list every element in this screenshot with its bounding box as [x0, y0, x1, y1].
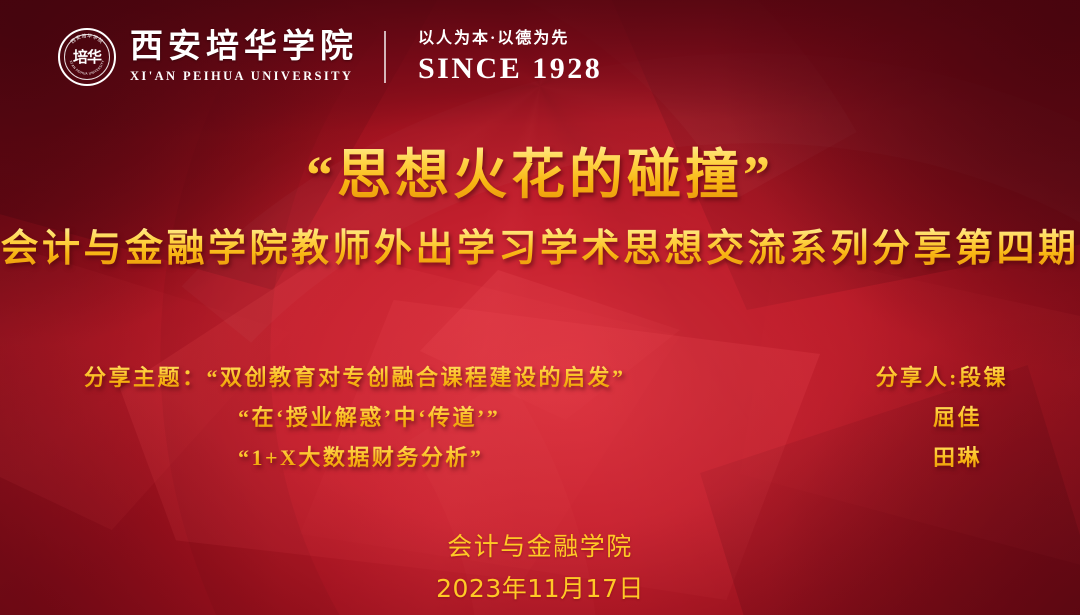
university-seal-icon: 西安培华学院 XI'AN PEIHUA UNIVERSITY 培华 [58, 28, 116, 86]
topic-row: “在‘授业解惑’中‘传道’” 屈佳 [0, 400, 1080, 440]
university-motto: 以人为本·以德为先 SINCE 1928 [418, 31, 602, 84]
topic-presenter: 屈佳 [933, 400, 982, 432]
motto-since-year: SINCE 1928 [418, 54, 602, 84]
poster-title-text: “思想火花的碰撞” [306, 145, 774, 205]
footer-date: 2023年11月17日 [0, 571, 1080, 607]
university-wordmark: 西安培华学院 XI'AN PEIHUA UNIVERSITY [130, 31, 358, 83]
topic-row: 分享主题：“双创教育对专创融合课程建设的启发” 分享人:段锞 [0, 360, 1080, 400]
background-vignette [0, 0, 1080, 615]
university-logo-lockup: 西安培华学院 XI'AN PEIHUA UNIVERSITY 培华 西安培华学院… [58, 28, 602, 86]
topic-title: 分享主题：“双创教育对专创融合课程建设的启发” [84, 360, 626, 392]
header-divider [384, 31, 386, 83]
topic-list: 分享主题：“双创教育对专创融合课程建设的启发” 分享人:段锞 “在‘授业解惑’中… [0, 360, 1080, 480]
topic-title: “在‘授业解惑’中‘传道’” [238, 400, 500, 432]
poster-subtitle-text: 会计与金融学院教师外出学习学术思想交流系列分享第四期 [0, 228, 1079, 270]
seal-core-text: 培华 [73, 50, 101, 65]
university-name-cn: 西安培华学院 [130, 31, 358, 64]
svg-text:西安培华学院: 西安培华学院 [70, 32, 105, 45]
topic-presenter: 田琳 [933, 440, 982, 472]
poster-footer: 会计与金融学院 2023年11月17日 [0, 529, 1080, 608]
topic-presenter: 分享人:段锞 [876, 360, 1008, 392]
motto-cn: 以人为本·以德为先 [418, 31, 602, 47]
topic-title: “1+X大数据财务分析” [238, 440, 483, 472]
event-poster: 西安培华学院 XI'AN PEIHUA UNIVERSITY 培华 西安培华学院… [0, 0, 1080, 615]
poster-title: “思想火花的碰撞” [0, 146, 1080, 205]
poster-subtitle: 会计与金融学院教师外出学习学术思想交流系列分享第四期 [0, 228, 1080, 272]
topic-row: “1+X大数据财务分析” 田琳 [0, 440, 1080, 480]
footer-organization: 会计与金融学院 [0, 529, 1080, 565]
university-name-en: XI'AN PEIHUA UNIVERSITY [130, 70, 358, 83]
